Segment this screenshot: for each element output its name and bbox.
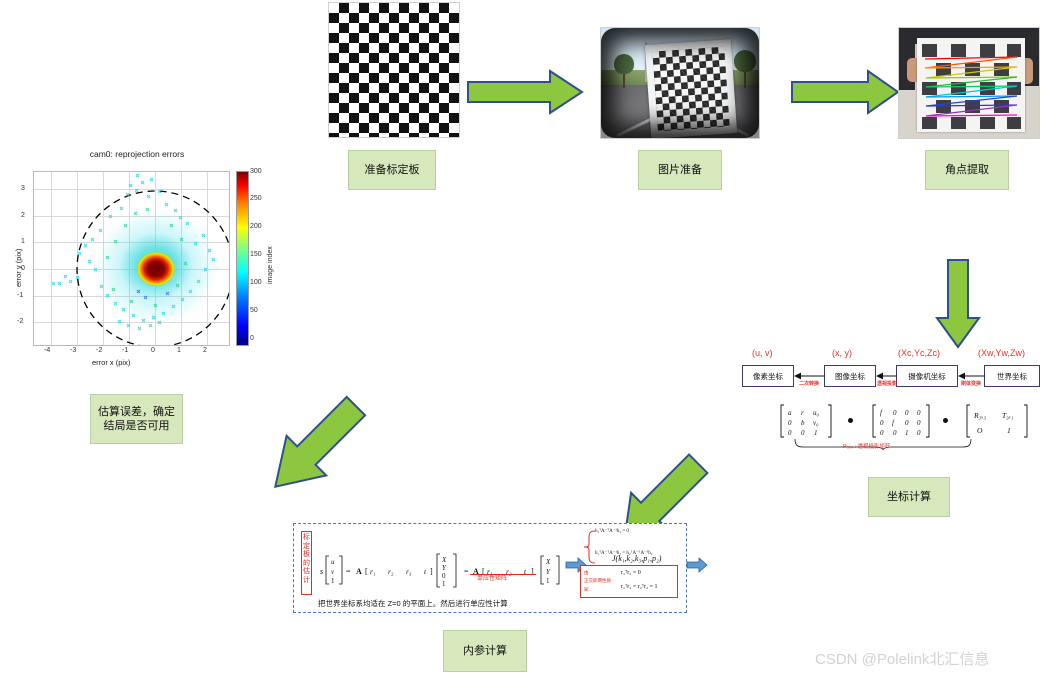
svg-text:=: = bbox=[464, 567, 469, 576]
svg-text:]: ] bbox=[430, 567, 433, 576]
arrow-corner-to-coord bbox=[934, 258, 982, 350]
x-axis-label: error x (pix) bbox=[92, 358, 130, 367]
constraint-1-text: h₁ᵀA⁻ᵀA⁻¹h₂ = 0 bbox=[595, 529, 629, 534]
pixel-coords-top-label: (u, v) bbox=[752, 348, 773, 358]
orthogonality-prefix-line-2: 正交即两性质 bbox=[584, 577, 611, 584]
reprojection-error-chart: cam0: reprojection errors bbox=[4, 142, 270, 374]
image-coords-top-label: (x, y) bbox=[832, 348, 852, 358]
extrinsic-matrix: R₃ₓ₃ T₃ₓ₁ O 1 bbox=[966, 404, 1028, 440]
chain-arrow-world-to-camera bbox=[958, 371, 985, 381]
coordbox-camera-coords: 摄像机坐标 bbox=[896, 365, 958, 387]
chart-plot-area bbox=[33, 171, 230, 346]
formula-step-arrow-2 bbox=[686, 557, 708, 573]
svg-text:v₀: v₀ bbox=[813, 419, 819, 427]
svg-text:0: 0 bbox=[893, 409, 897, 417]
colorbar-axis-label: image index bbox=[267, 246, 274, 284]
orthogonality-prefix-line-3: 知: bbox=[584, 586, 590, 593]
svg-text:X: X bbox=[545, 558, 551, 566]
colorbar-tick-label: 100 bbox=[250, 279, 262, 286]
coordbox-image-coords: 图像坐标 bbox=[824, 365, 876, 387]
svg-text:0: 0 bbox=[893, 429, 897, 437]
y-tick-label: 2 bbox=[21, 212, 25, 219]
y-tick-label: -2 bbox=[17, 318, 23, 325]
svg-text:T₃ₓ₁: T₃ₓ₁ bbox=[1002, 411, 1014, 420]
svg-text:0: 0 bbox=[905, 409, 909, 417]
projection-matrix: f 0 0 0 0 f 0 0 0 0 1 0 bbox=[872, 404, 930, 440]
y-axis-label: error y (pix) bbox=[14, 249, 23, 287]
label-intrinsic-calc: 内参计算 bbox=[443, 630, 527, 672]
svg-text:1: 1 bbox=[905, 429, 909, 437]
detected-board bbox=[917, 38, 1025, 132]
arrow-intrinsic-to-error bbox=[250, 385, 385, 505]
svg-text:1: 1 bbox=[331, 577, 335, 585]
svg-text:=: = bbox=[346, 567, 351, 576]
svg-text:0: 0 bbox=[801, 429, 805, 437]
chart-title: cam0: reprojection errors bbox=[4, 149, 270, 159]
road-checkerboard-photo-image bbox=[600, 27, 760, 139]
colorbar-tick-label: 0 bbox=[250, 335, 254, 342]
formula-caption: 把世界坐标系均适在 Z=0 的平面上。然后进行单应性计算 bbox=[318, 598, 508, 609]
svg-text:t: t bbox=[424, 567, 427, 576]
operator-dot bbox=[943, 418, 948, 423]
svg-text:r: r bbox=[801, 409, 804, 417]
svg-text:0: 0 bbox=[442, 572, 446, 580]
svg-text:0: 0 bbox=[917, 409, 921, 417]
y-tick-label: -1 bbox=[17, 292, 23, 299]
ortho-eq-2-text: r₁ᵀr₁ = r₂ᵀr₂ = 1 bbox=[621, 584, 657, 590]
chain-arrow-image-to-pixel bbox=[794, 371, 825, 381]
corner-extraction-photo-image bbox=[898, 27, 1040, 139]
intrinsic-matrix: a r u₀ 0 b v₀ 0 0 1 bbox=[780, 404, 832, 440]
svg-text:s: s bbox=[320, 567, 323, 576]
svg-text:X: X bbox=[441, 556, 447, 564]
label-prepare-board: 准备标定板 bbox=[348, 150, 436, 190]
red-brace bbox=[582, 530, 596, 564]
label-error-estimate: 估算误差，确定结局是否可用 bbox=[90, 394, 183, 444]
transform-label-perspective: 透视投影 bbox=[873, 381, 901, 387]
x-tick-label: -4 bbox=[44, 347, 50, 354]
x-tick-label: -3 bbox=[70, 347, 76, 354]
coordbox-pixel-coords: 像素坐标 bbox=[742, 365, 794, 387]
orthogonality-prefix-line-1: 由 bbox=[584, 569, 589, 576]
svg-text:R₃ₓ₃: R₃ₓ₃ bbox=[973, 411, 986, 420]
y-tick-label: 3 bbox=[21, 185, 25, 192]
svg-text:[: [ bbox=[365, 567, 368, 576]
orthogonality-equation-1: r₁ᵀr₂ = 0 bbox=[621, 570, 641, 576]
svg-text:Y: Y bbox=[442, 564, 447, 572]
svg-text:0: 0 bbox=[880, 419, 884, 427]
distortion-result-text: J(k₁,k₂,k₃,p₁,p₂) bbox=[612, 554, 661, 563]
label-corner-extract: 角点提取 bbox=[925, 150, 1009, 190]
svg-text:O: O bbox=[977, 426, 983, 435]
constraint-equation-1: h₁ᵀA⁻ᵀA⁻¹h₂ = 0 bbox=[595, 528, 629, 534]
homography-formula-block: 标定板的估计 s u v 1 = A [ r₁ r₂ r₃ t ] X Y 0 … bbox=[293, 523, 687, 613]
x-tick-label: -2 bbox=[96, 347, 102, 354]
svg-text:b: b bbox=[801, 419, 805, 427]
svg-text:1: 1 bbox=[546, 577, 550, 585]
colorbar-tick-label: 300 bbox=[250, 168, 262, 175]
coordinate-chain-diagram: (u, v) (x, y) (Xc,Yc,Zc) (Xw,Yw,Zw) 像素坐标… bbox=[738, 348, 1043, 468]
svg-text:0: 0 bbox=[880, 429, 884, 437]
colorbar bbox=[236, 171, 249, 346]
road-scene bbox=[601, 28, 759, 138]
svg-text:0: 0 bbox=[917, 419, 921, 427]
y-tick-label: 1 bbox=[21, 238, 25, 245]
x-tick-label: -1 bbox=[122, 347, 128, 354]
label-coord-calc: 坐标计算 bbox=[868, 477, 950, 517]
colorbar-tick-label: 200 bbox=[250, 223, 262, 230]
projection-brace-caption: P₃ₓ₄ : 透视投影矩阵 bbox=[843, 442, 891, 450]
svg-text:r₃: r₃ bbox=[406, 567, 412, 576]
svg-text:A: A bbox=[356, 567, 362, 576]
checkerboard-pattern-image bbox=[328, 2, 460, 138]
csdn-watermark: CSDN @Polelink北汇信息 bbox=[815, 648, 989, 669]
fisheye-vignette bbox=[601, 28, 759, 138]
checkerboard-pattern-icon bbox=[329, 3, 459, 137]
x-tick-label: 1 bbox=[177, 347, 181, 354]
svg-text:f: f bbox=[892, 419, 895, 427]
colorbar-tick-label: 50 bbox=[250, 307, 258, 314]
svg-text:v: v bbox=[331, 568, 335, 576]
ortho-eq-1-text: r₁ᵀr₂ = 0 bbox=[621, 570, 641, 576]
svg-text:r₂: r₂ bbox=[388, 567, 394, 576]
orthogonality-equation-2: r₁ᵀr₁ = r₂ᵀr₂ = 1 bbox=[621, 584, 657, 590]
label-image-prepare: 图片准备 bbox=[638, 150, 722, 190]
detected-corner-lines-overlay bbox=[917, 38, 1025, 132]
transform-label-rigid-body: 刚体变换 bbox=[956, 381, 986, 387]
svg-text:f: f bbox=[880, 409, 883, 417]
svg-text:0: 0 bbox=[905, 419, 909, 427]
homography-underline-label: 单应性矩阵 bbox=[477, 576, 507, 583]
error-scatter-points bbox=[34, 172, 229, 345]
colorbar-tick-label: 250 bbox=[250, 195, 262, 202]
formula-vertical-label: 标定板的估计 bbox=[301, 531, 312, 595]
colorbar-tick-label: 150 bbox=[250, 251, 262, 258]
svg-text:u: u bbox=[331, 558, 335, 566]
x-tick-label: 0 bbox=[151, 347, 155, 354]
world-coords-top-label: (Xw,Yw,Zw) bbox=[978, 348, 1025, 358]
camera-coords-top-label: (Xc,Yc,Zc) bbox=[898, 348, 940, 358]
homography-equation-left: s u v 1 = A [ r₁ r₂ r₃ t ] X Y 0 1 bbox=[320, 550, 468, 592]
svg-text:u₀: u₀ bbox=[813, 409, 820, 417]
operator-dot bbox=[848, 418, 853, 423]
svg-text:1: 1 bbox=[442, 580, 446, 588]
svg-text:1: 1 bbox=[814, 429, 818, 437]
arrow-board-to-photo bbox=[466, 68, 584, 116]
orthogonality-redbox: 由 正交即两性质 知: r₁ᵀr₂ = 0 r₁ᵀr₁ = r₂ᵀr₂ = 1 bbox=[580, 565, 678, 598]
svg-text:a: a bbox=[788, 409, 792, 417]
chain-arrow-camera-to-image bbox=[876, 371, 897, 381]
svg-text:0: 0 bbox=[788, 419, 792, 427]
svg-text:0: 0 bbox=[788, 429, 792, 437]
homography-equation-right: = A [ r₁ r₂ t ] X Y 1 bbox=[464, 550, 576, 592]
svg-text:Y: Y bbox=[546, 568, 551, 576]
arrow-photo-to-corner bbox=[790, 68, 900, 116]
x-tick-label: 2 bbox=[203, 347, 207, 354]
homography-underline bbox=[470, 574, 536, 575]
svg-text:r₁: r₁ bbox=[370, 567, 376, 576]
svg-text:1: 1 bbox=[1007, 426, 1011, 435]
svg-text:0: 0 bbox=[917, 429, 921, 437]
transform-label-secondary: 二次转换 bbox=[794, 381, 824, 387]
coordbox-world-coords: 世界坐标 bbox=[984, 365, 1040, 387]
